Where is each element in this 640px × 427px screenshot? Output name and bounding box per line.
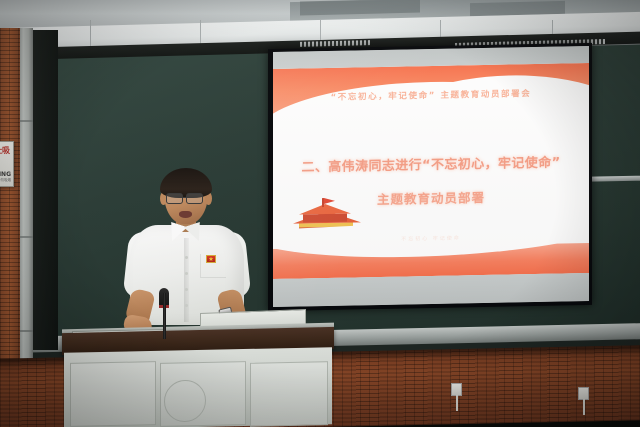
- no-smoking-sign: 禁止吸烟 NO SMOKING 请勿吸烟: [0, 141, 14, 187]
- soffit-seam: [90, 20, 91, 46]
- glasses-bridge: [183, 197, 186, 198]
- no-smoking-sign-en: NO SMOKING: [0, 164, 11, 178]
- presentation-slide: “不忘初心，牢记使命” 主题教育动员部署会 二、高伟涛同志进行“不忘初心，牢记使…: [273, 63, 589, 279]
- podium-panel-right: [250, 361, 328, 427]
- podium-panel-left: [70, 361, 156, 427]
- mouth: [179, 211, 192, 218]
- wall-outlet-conduit: [456, 395, 458, 411]
- pillar-seam: [18, 120, 33, 122]
- glasses-lens-left: [166, 193, 183, 204]
- no-smoking-sign-sub: 请勿吸烟: [0, 178, 11, 183]
- projection-screen: “不忘初心，牢记使命” 主题教育动员部署会 二、高伟涛同志进行“不忘初心，牢记使…: [273, 46, 589, 307]
- wall-outlet-conduit: [583, 399, 585, 415]
- slide-title-line-1: 二、高伟涛同志进行“不忘初心，牢记使命”: [277, 151, 585, 176]
- glasses-lens-right: [186, 193, 203, 204]
- shirt-button: [185, 256, 188, 259]
- pillar-seam: [18, 236, 33, 238]
- no-smoking-sign-cn: 禁止吸烟: [0, 146, 11, 164]
- microphone-stand: [163, 293, 166, 339]
- shirt-button: [185, 304, 188, 307]
- shirt-placket: [184, 238, 189, 322]
- shirt-button: [185, 272, 188, 275]
- shirt-button: [185, 288, 188, 291]
- photo-scene: 禁止吸烟 NO SMOKING 请勿吸烟 “不忘初心，牢记使命” 主题教育动员部…: [0, 0, 640, 427]
- soffit-seam: [200, 20, 201, 46]
- pillar-seam: [18, 330, 33, 332]
